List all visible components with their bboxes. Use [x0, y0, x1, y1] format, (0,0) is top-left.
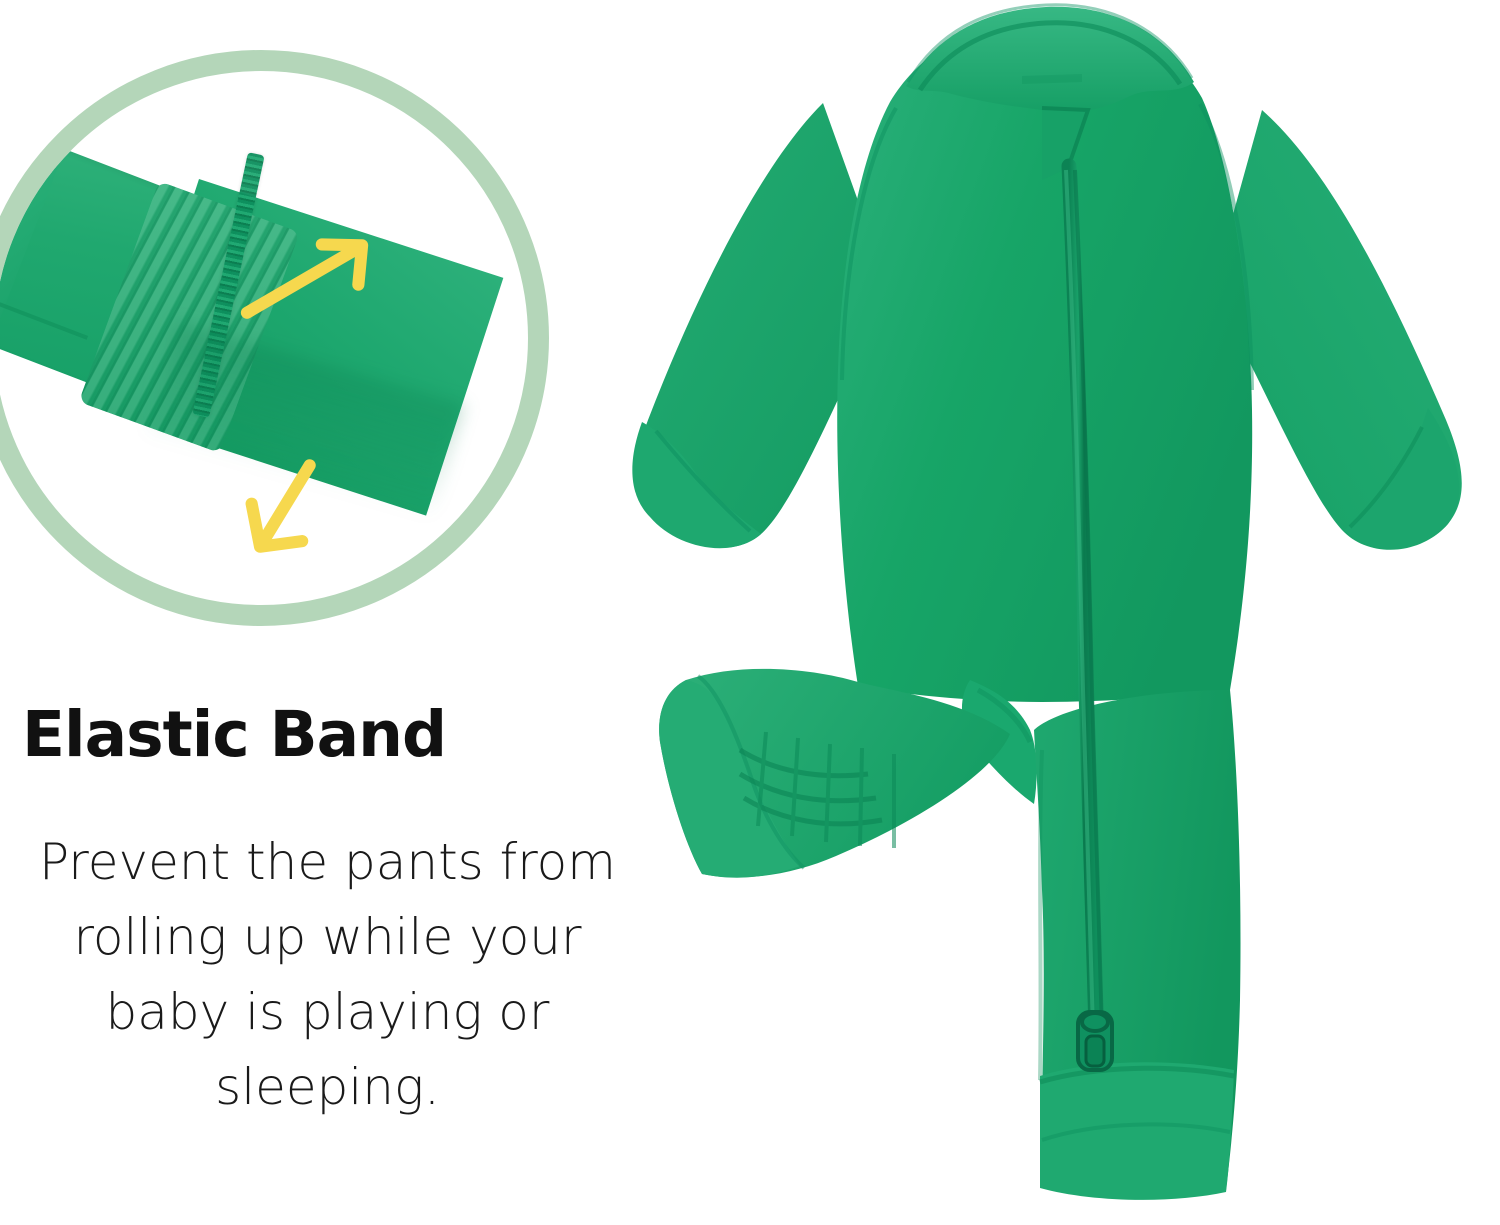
- elastic-band-detail-inset: [0, 50, 549, 626]
- inset-circle-ring: [0, 50, 549, 626]
- romper-illustration: [590, 0, 1500, 1220]
- zipper-pull[interactable]: [1078, 1012, 1112, 1070]
- description-line-2: rolling up while your: [0, 900, 655, 975]
- product-photo-romper: [590, 0, 1500, 1220]
- description-line-3: baby is playing or: [0, 975, 655, 1050]
- page-title: Elastic Band: [22, 703, 642, 766]
- feature-description: Prevent the pants from rolling up while …: [0, 825, 655, 1125]
- feature-callout-canvas: Elastic Band Prevent the pants from roll…: [0, 0, 1500, 1212]
- description-line-4: sleeping.: [0, 1050, 655, 1125]
- description-line-1: Prevent the pants from: [0, 825, 655, 900]
- right-leg-inseam: [1040, 750, 1042, 1080]
